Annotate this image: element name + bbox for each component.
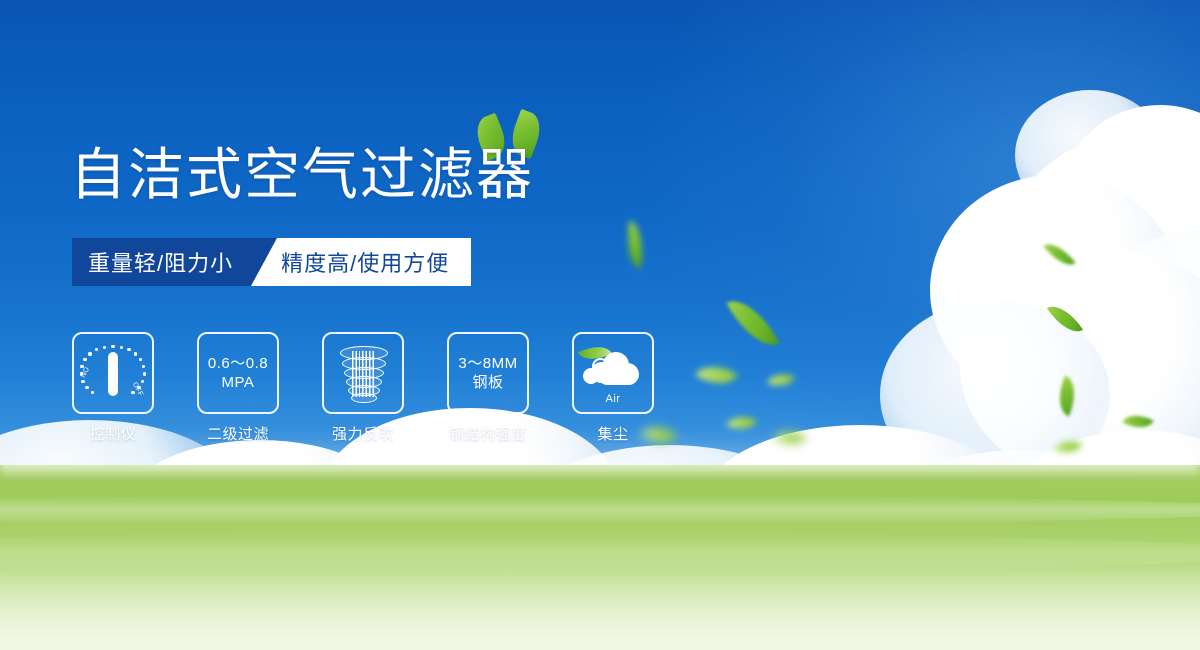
feature-icon-text-line2: MPA (222, 373, 255, 392)
subtitle-banner: 重量轻/阻力小 精度高/使用方便 (72, 238, 471, 286)
page-title: 自洁式空气过滤器 (70, 140, 534, 210)
feature-item-controller[interactable]: NO OFF 控制仪 (72, 332, 154, 444)
feature-item-backblow[interactable]: 强力反吹 (322, 332, 404, 444)
cloud-swirl (604, 355, 617, 368)
subtitle-light-segment: 精度高/使用方便 (277, 238, 471, 286)
feature-label: 钢结构强度 (447, 423, 529, 444)
air-label: Air (574, 393, 652, 405)
feature-list: NO OFF 控制仪 0.6～0.8 MPA 二级过滤 (72, 332, 654, 444)
grass-light-wash (0, 555, 1200, 650)
dial-off-label: OFF (131, 381, 144, 397)
cloud-leaf-icon (583, 353, 643, 393)
feature-label: 集尘 (572, 423, 654, 444)
subtitle-slant-divider (251, 238, 277, 286)
product-hero-banner: 自洁式空气过滤器 重量轻/阻力小 精度高/使用方便 (0, 0, 1200, 650)
feature-icon-text-line2: 钢板 (472, 373, 503, 392)
grass-field (0, 465, 1200, 650)
feature-item-steel-strength[interactable]: 3～8MM 钢板 钢结构强度 (447, 332, 529, 444)
feature-label: 控制仪 (72, 423, 154, 444)
feature-item-secondary-filtration[interactable]: 0.6～0.8 MPA 二级过滤 (197, 332, 279, 444)
feature-icon-box[interactable]: 0.6～0.8 MPA (197, 332, 279, 414)
dial-gauge-icon: NO OFF (80, 342, 146, 404)
feature-item-dust-collection[interactable]: Air 集尘 (572, 332, 654, 444)
feature-label: 二级过滤 (197, 423, 279, 444)
feature-icon-box[interactable]: 3～8MM 钢板 (447, 332, 529, 414)
feature-icon-text-line1: 0.6～0.8 (208, 354, 268, 373)
grass-stripe (0, 495, 1200, 525)
feature-icon-box[interactable]: NO OFF (72, 332, 154, 414)
filter-cartridge-icon (334, 344, 392, 402)
feature-icon-text-line1: 3～8MM (458, 354, 517, 373)
dial-pointer (108, 352, 118, 396)
feature-label: 强力反吹 (322, 423, 404, 444)
grass-horizon-edge (0, 465, 1200, 481)
feature-icon-box[interactable]: Air (572, 332, 654, 414)
feature-icon-box[interactable] (322, 332, 404, 414)
subtitle-dark-segment: 重量轻/阻力小 (72, 238, 251, 286)
